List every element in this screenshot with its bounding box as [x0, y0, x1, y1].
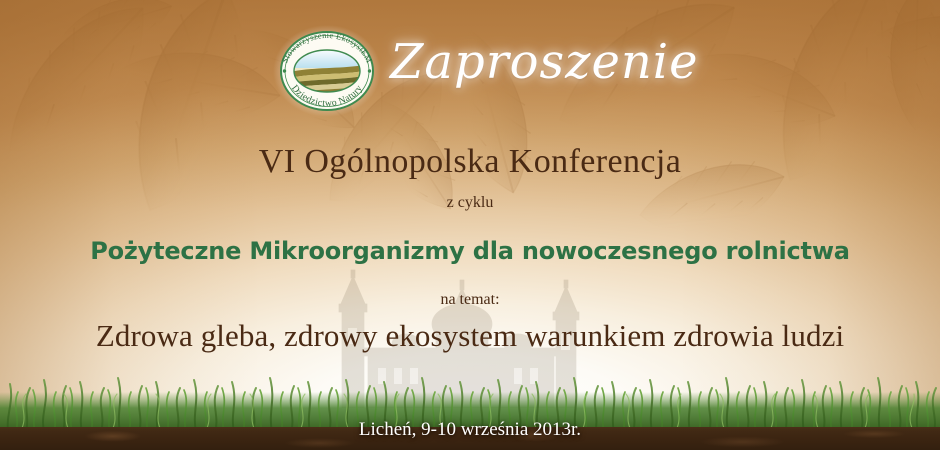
invitation-heading: Zaproszenie	[390, 34, 690, 90]
topic-title: Zdrowa gleba, zdrowy ekosystem warunkiem…	[0, 318, 940, 354]
invitation-card: Stowarzyszenie EkosystEM Dziedzictwo Nat…	[0, 0, 940, 450]
logo-dot-left	[283, 69, 286, 72]
conference-title: VI Ogólnopolska Konferencja	[0, 143, 940, 181]
series-name: Pożyteczne Mikroorganizmy dla nowoczesne…	[0, 237, 940, 265]
logo-dot-right	[368, 69, 371, 72]
topic-label: na temat:	[0, 291, 940, 309]
place-and-date: Licheń, 9-10 września 2013r.	[0, 419, 940, 441]
association-logo: Stowarzyszenie EkosystEM Dziedzictwo Nat…	[272, 22, 382, 120]
series-label: z cyklu	[0, 194, 940, 212]
